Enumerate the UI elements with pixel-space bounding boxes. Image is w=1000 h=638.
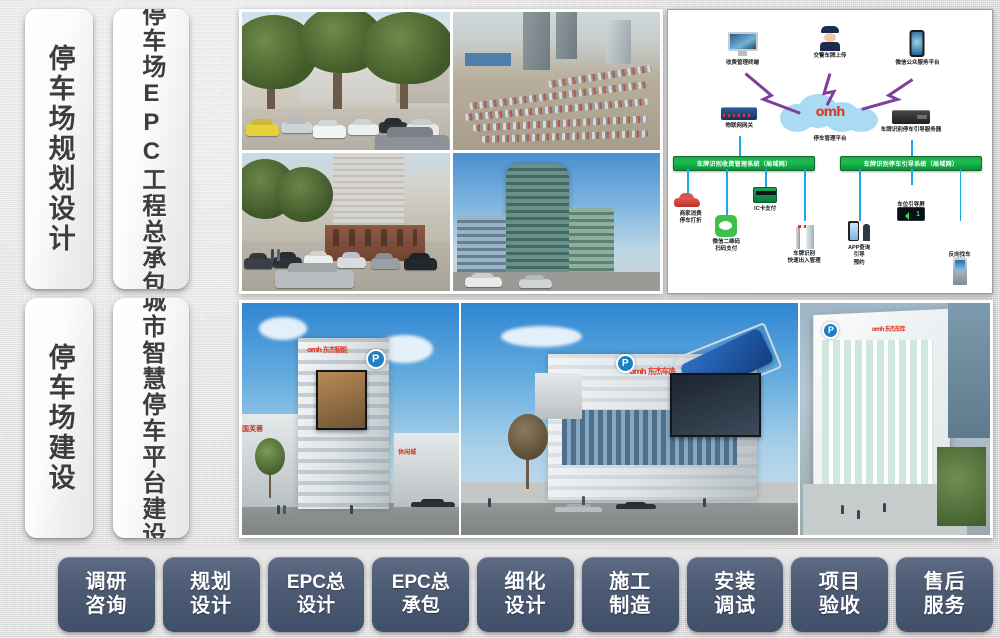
kiosk-icon xyxy=(953,257,967,285)
chip-line-2: 验收 xyxy=(819,595,861,618)
wechat-icon xyxy=(715,215,737,237)
render-highrise-aerial[interactable]: omh 东杰车库 P xyxy=(800,303,991,535)
category-card-label: 城市智慧停车平台建设 xyxy=(137,298,165,538)
process-chip-planning-design[interactable]: 规划 设计 xyxy=(163,557,260,632)
page-root: 停车场规划设计 停车场EPC工程总承包 停车场建设 城市智慧停车平台建设 xyxy=(0,0,1000,638)
system-architecture-diagram-panel: omh 停车管理平台 收费管理终端 交警车牌上传 微信公众服务平台 xyxy=(667,9,993,294)
server-icon xyxy=(892,110,930,124)
chip-line-2: 设计 xyxy=(297,595,335,617)
category-card-label: 停车场EPC工程总承包 xyxy=(137,9,165,289)
process-chip-bar: 调研 咨询 规划 设计 EPC总 设计 EPC总 承包 细化 设计 施工 制造 xyxy=(0,548,1000,638)
connector-line xyxy=(739,136,741,156)
render-mechanical-garage[interactable]: omh 东杰智能 P 国芙蓉 休闲城 xyxy=(242,303,459,535)
router-icon xyxy=(721,107,757,120)
process-chip-survey-consult[interactable]: 调研 咨询 xyxy=(58,557,155,632)
chip-line-1: 规划 xyxy=(190,571,232,594)
process-chip-epc-contracting[interactable]: EPC总 承包 xyxy=(372,557,469,632)
connector-line xyxy=(726,169,728,215)
chip-line-2: 咨询 xyxy=(85,595,127,618)
diagram-node-label-anpr-entry-exit: 车牌识别 快速出入管理 xyxy=(771,251,837,266)
diagram-node-label-traffic-police: 交警车牌上传 xyxy=(794,53,866,60)
diagram-node-label-guidance-screen: 车位引导屏 xyxy=(882,202,940,209)
render-gallery-panel: omh 东杰智能 P 国芙蓉 休闲城 omh 东杰车库 xyxy=(239,300,993,538)
photo-surface-parking-lot[interactable] xyxy=(242,12,450,150)
chip-line-1: 售后 xyxy=(924,571,966,594)
diagram-node-label-iot-gateway: 物联网网关 xyxy=(707,123,771,130)
chip-line-1: EPC总 xyxy=(287,572,345,594)
system-title-anpr-toll: 车牌识别收费管理系统（局域网） xyxy=(673,156,815,171)
diagram-node-label-merchant-discount: 商家消费 停车打折 xyxy=(664,211,718,226)
brand-logo: omh 东杰车库 xyxy=(872,324,905,333)
app-phone-icon xyxy=(848,221,870,243)
category-card-parking-planning-design[interactable]: 停车场规划设计 xyxy=(25,9,93,289)
category-card-parking-epc-contracting[interactable]: 停车场EPC工程总承包 xyxy=(113,9,189,289)
process-chip-construction-manufacturing[interactable]: 施工 制造 xyxy=(582,557,679,632)
barrier-gate-icon xyxy=(794,221,814,249)
photo-gallery-panel xyxy=(239,9,663,294)
red-car-icon xyxy=(674,193,700,209)
process-chip-detailed-design[interactable]: 细化 设计 xyxy=(477,557,574,632)
connector-line xyxy=(960,169,962,221)
process-chip-list: 调研 咨询 规划 设计 EPC总 设计 EPC总 承包 细化 设计 施工 制造 xyxy=(58,557,993,632)
monitor-icon xyxy=(728,32,758,56)
render-signage: 国芙蓉 xyxy=(242,424,263,434)
chip-line-1: 项目 xyxy=(819,571,861,594)
connector-line xyxy=(765,169,767,187)
chip-line-2: 服务 xyxy=(924,595,966,618)
diagram-node-label-reverse-car-finding: 反向找车 xyxy=(933,252,987,259)
render-signage-2: 休闲城 xyxy=(398,447,416,456)
connector-line xyxy=(911,140,913,156)
parking-p-icon: P xyxy=(366,349,386,369)
process-chip-epc-design[interactable]: EPC总 设计 xyxy=(268,557,365,632)
chip-line-1: 施工 xyxy=(609,571,651,594)
category-card-label: 停车场建设 xyxy=(43,343,74,493)
brand-logo: omh 东杰智能 xyxy=(307,345,347,355)
chip-line-2: 制造 xyxy=(609,595,651,618)
chip-line-1: EPC总 xyxy=(392,572,450,594)
category-card-parking-construction[interactable]: 停车场建设 xyxy=(25,298,93,538)
diagram-node-label-toll-terminal: 收费管理终端 xyxy=(711,60,775,67)
render-garage-facade[interactable]: omh 东杰车库 P xyxy=(461,303,798,535)
parking-p-icon: P xyxy=(616,354,635,373)
diagram-node-label-app-query: APP查询 引导 预约 xyxy=(833,245,885,267)
category-card-smart-parking-platform[interactable]: 城市智慧停车平台建设 xyxy=(113,298,189,538)
connector-line xyxy=(859,169,861,221)
chip-line-1: 调研 xyxy=(85,571,127,594)
smartphone-icon xyxy=(910,30,925,57)
process-chip-installation-commissioning[interactable]: 安装 调试 xyxy=(687,557,784,632)
parking-p-icon: P xyxy=(822,322,839,339)
render-row: omh 东杰智能 P 国芙蓉 休闲城 omh 东杰车库 xyxy=(242,303,990,535)
connector-line xyxy=(911,169,913,185)
chip-line-2: 调试 xyxy=(714,595,756,618)
police-officer-icon xyxy=(820,26,840,50)
photo-office-tower[interactable] xyxy=(453,153,661,291)
process-chip-project-acceptance[interactable]: 项目 验收 xyxy=(791,557,888,632)
chip-line-2: 设计 xyxy=(190,595,232,618)
connector-line xyxy=(804,169,806,221)
chip-line-2: 承包 xyxy=(402,595,440,617)
process-chip-after-sales-service[interactable]: 售后 服务 xyxy=(896,557,993,632)
ic-card-icon xyxy=(753,187,777,203)
photo-residential-parking-lot[interactable] xyxy=(242,153,450,291)
photo-aerial-parking-lot[interactable] xyxy=(453,12,661,150)
diagram-node-label-anpr-server: 车牌识别停车引导服务器 xyxy=(861,127,961,134)
diagram-node-label-wechat-qr-pay: 微信二维码 扫码支付 xyxy=(696,239,756,254)
brand-logo: omh 东杰车库 xyxy=(629,366,675,377)
photo-grid xyxy=(242,12,660,291)
connector-line xyxy=(687,169,689,193)
diagram-node-label-ic-card-pay: IC卡支付 xyxy=(738,206,792,213)
category-card-label: 停车场规划设计 xyxy=(43,44,74,254)
chip-line-1: 细化 xyxy=(505,571,547,594)
chip-line-2: 设计 xyxy=(505,595,547,618)
system-architecture-diagram: omh 停车管理平台 收费管理终端 交警车牌上传 微信公众服务平台 xyxy=(668,10,992,293)
chip-line-1: 安装 xyxy=(714,571,756,594)
diagram-node-label-wechat-platform: 微信公众服务平台 xyxy=(874,60,960,67)
category-card-column: 停车场规划设计 停车场EPC工程总承包 停车场建设 城市智慧停车平台建设 xyxy=(0,0,232,546)
